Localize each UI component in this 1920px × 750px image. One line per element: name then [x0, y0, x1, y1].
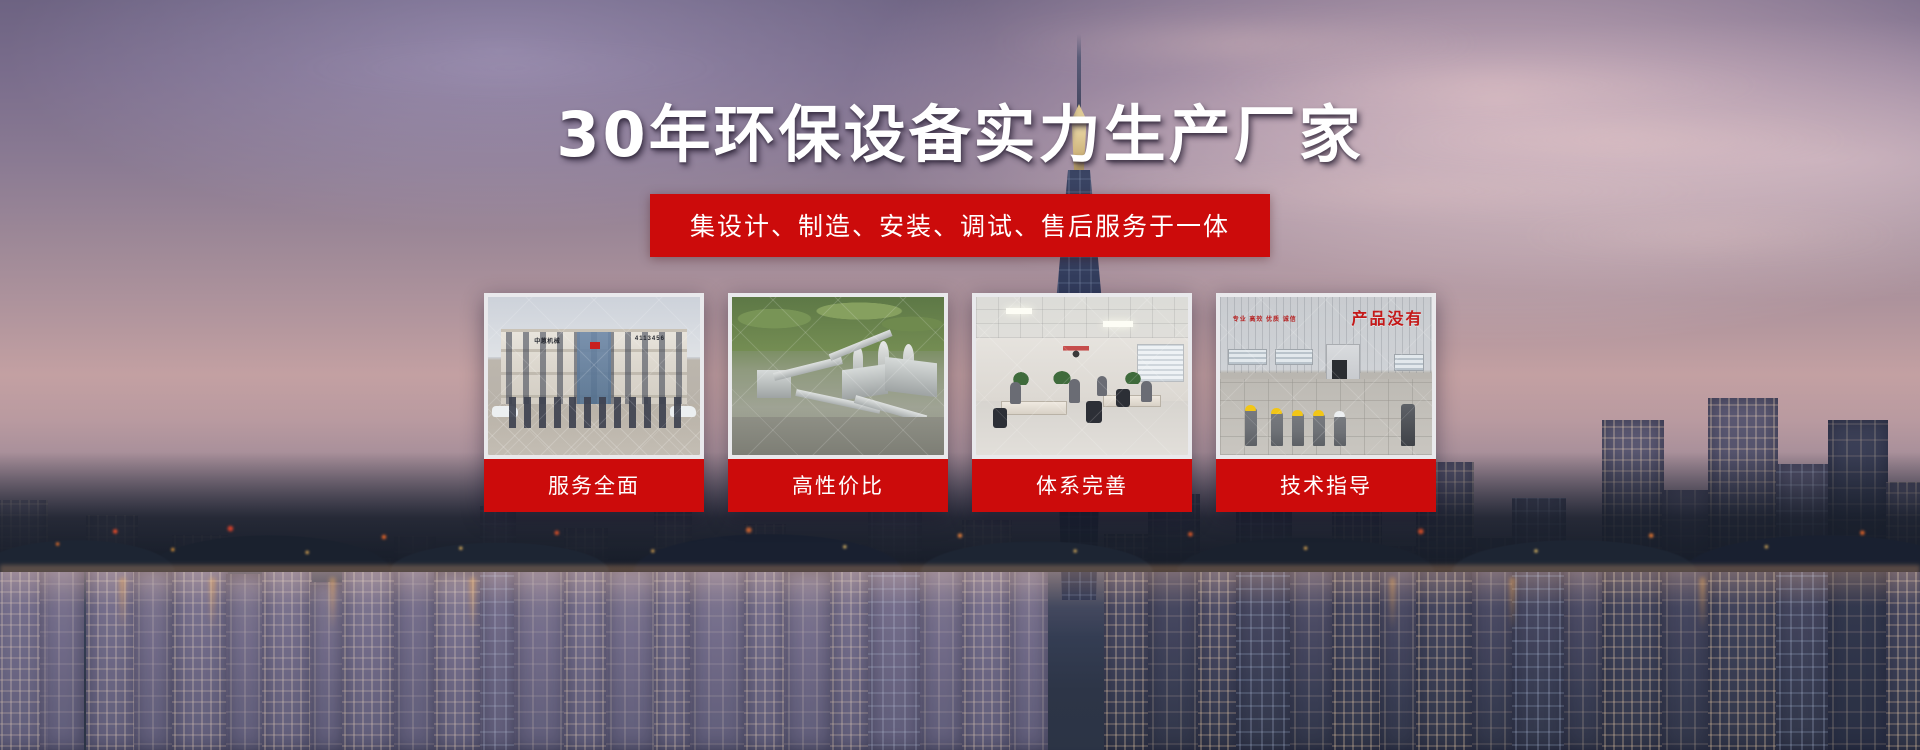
banner-content: 30年环保设备实力生产厂家 集设计、制造、安装、调试、售后服务于一体 中蒽机械 … [0, 0, 1920, 750]
feature-card-list: 中蒽机械 4113456 服务全面 [484, 293, 1436, 512]
card-photo-factory: 产品没有 专业 高效 优质 诚信 [1220, 297, 1432, 455]
card-caption: 服务全面 [484, 459, 704, 512]
building-sign-text: 中蒽机械 [534, 336, 560, 345]
feature-card[interactable]: 体系完善 [972, 293, 1192, 512]
card-caption: 高性价比 [728, 459, 948, 512]
factory-wall-text: 产品没有 [1352, 305, 1424, 329]
wall-logo [1063, 346, 1089, 366]
card-photo-office [976, 297, 1188, 455]
hero-banner: 30年环保设备实力生产厂家 集设计、制造、安装、调试、售后服务于一体 中蒽机械 … [0, 0, 1920, 750]
feature-card[interactable]: 高性价比 [728, 293, 948, 512]
building-phone-text: 4113456 [635, 336, 665, 342]
card-caption: 技术指导 [1216, 459, 1436, 512]
feature-card[interactable]: 中蒽机械 4113456 服务全面 [484, 293, 704, 512]
subtitle-banner: 集设计、制造、安装、调试、售后服务于一体 [650, 194, 1270, 257]
feature-card[interactable]: 产品没有 专业 高效 优质 诚信 [1216, 293, 1436, 512]
flag-icon [590, 342, 600, 349]
page-title: 30年环保设备实力生产厂家 [556, 104, 1363, 166]
card-caption: 体系完善 [972, 459, 1192, 512]
card-photo-service: 中蒽机械 4113456 [488, 297, 700, 455]
factory-wall-slogan: 专业 高效 优质 诚信 [1233, 316, 1297, 325]
card-photo-plant [732, 297, 944, 455]
